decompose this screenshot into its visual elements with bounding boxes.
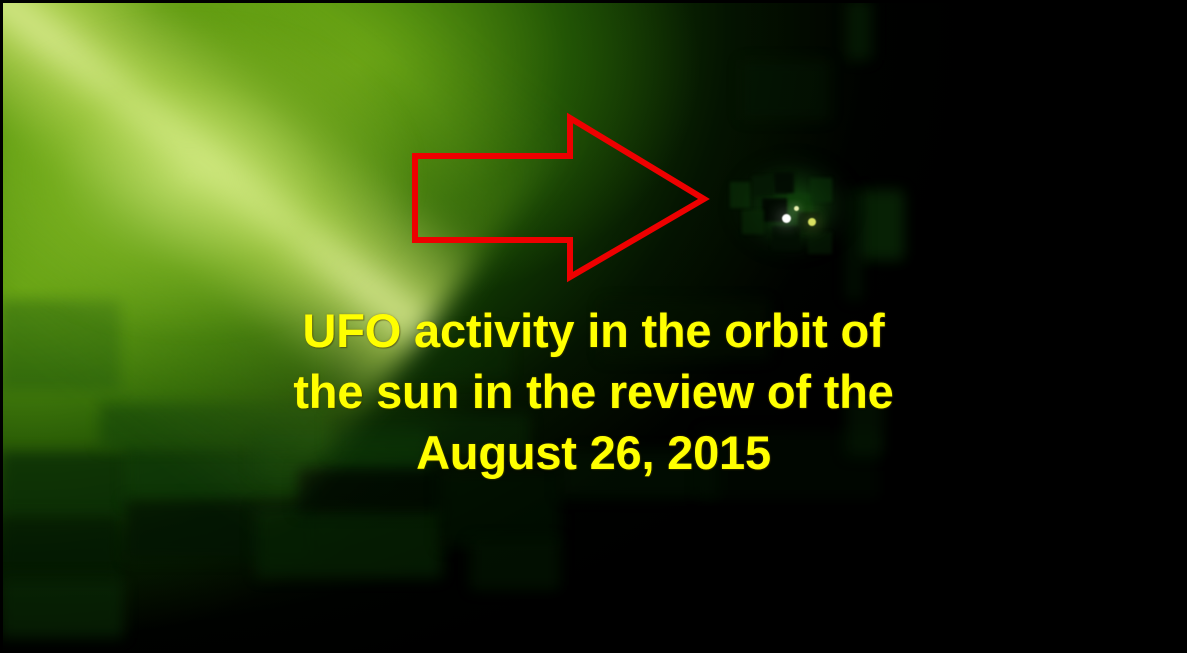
caption-line-1: UFO activity in the orbit of — [0, 300, 1187, 361]
video-frame: UFO activity in the orbit of the sun in … — [0, 0, 1187, 653]
red-arrow-pointer — [415, 118, 704, 277]
caption-block: UFO activity in the orbit of the sun in … — [0, 300, 1187, 483]
edge-bar-top — [0, 0, 1187, 3]
caption-line-2: the sun in the review of the — [0, 361, 1187, 422]
caption-line-3: August 26, 2015 — [0, 422, 1187, 483]
edge-bar-left — [0, 0, 3, 653]
